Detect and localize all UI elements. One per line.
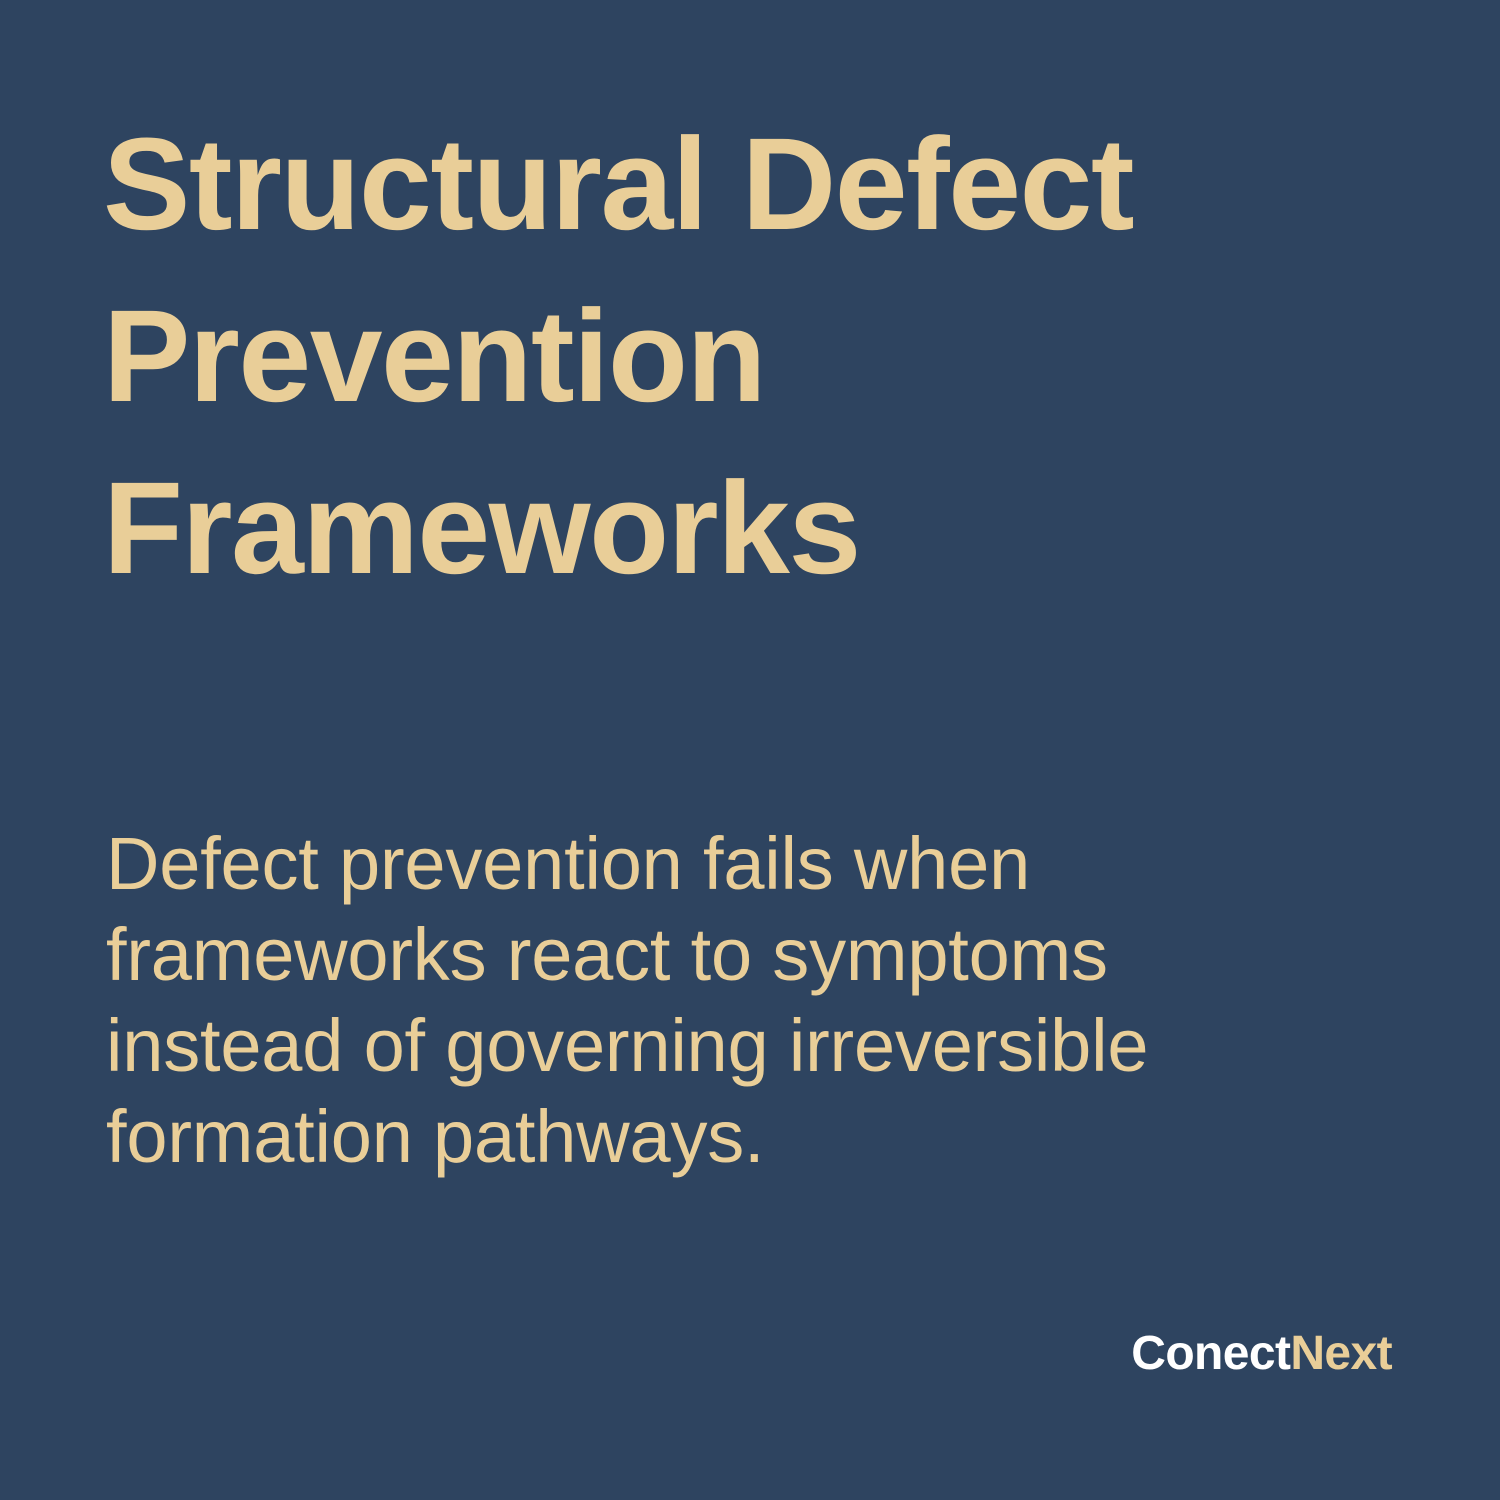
page-title: Structural Defect Prevention Frameworks <box>103 98 1283 614</box>
slide-canvas: Structural Defect Prevention Frameworks … <box>0 0 1500 1500</box>
body-paragraph: Defect prevention fails when frameworks … <box>106 818 1216 1182</box>
brand-logo-secondary: Next <box>1290 1327 1392 1380</box>
brand-logo-primary: Conect <box>1131 1327 1290 1380</box>
brand-logo: ConectNext <box>1131 1330 1392 1378</box>
